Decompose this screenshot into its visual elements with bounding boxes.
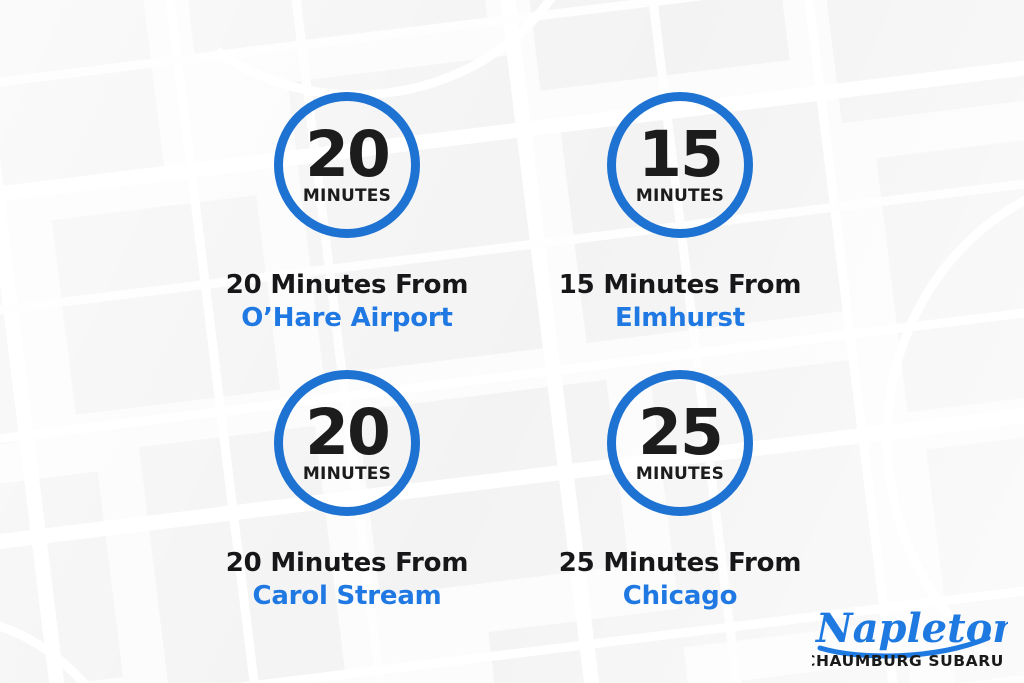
logo-artwork: Napleton's SCHAUMBURG SUBARU: [812, 598, 1008, 672]
drive-times-graphic: 20 MINUTES 20 Minutes From O’Hare Airpor…: [0, 0, 1024, 683]
badge-number: 20: [305, 406, 389, 460]
caption-primary: 25 Minutes From: [465, 547, 895, 580]
badge-unit: MINUTES: [636, 464, 724, 484]
minutes-badge: 20 MINUTES: [274, 370, 420, 516]
caption-primary: 15 Minutes From: [465, 269, 895, 302]
dealership-logo[interactable]: Napleton's SCHAUMBURG SUBARU: [812, 598, 1008, 672]
minutes-badge: 15 MINUTES: [607, 92, 753, 238]
badge-unit: MINUTES: [303, 464, 391, 484]
content-layer: 20 MINUTES 20 Minutes From O’Hare Airpor…: [0, 0, 1024, 683]
badge-number: 25: [638, 406, 722, 460]
badge-number: 20: [305, 128, 389, 182]
drive-time-card: 25 MINUTES 25 Minutes From Chicago: [465, 370, 895, 614]
badge-number: 15: [638, 128, 722, 182]
logo-wordmark: Napleton's: [814, 605, 1008, 652]
logo-subtitle: SCHAUMBURG SUBARU: [812, 652, 1004, 670]
card-caption: 15 Minutes From Elmhurst: [465, 269, 895, 336]
minutes-badge: 20 MINUTES: [274, 92, 420, 238]
drive-time-card: 15 MINUTES 15 Minutes From Elmhurst: [465, 92, 895, 336]
caption-location: Elmhurst: [465, 302, 895, 335]
badge-unit: MINUTES: [636, 186, 724, 206]
badge-unit: MINUTES: [303, 186, 391, 206]
minutes-badge: 25 MINUTES: [607, 370, 753, 516]
